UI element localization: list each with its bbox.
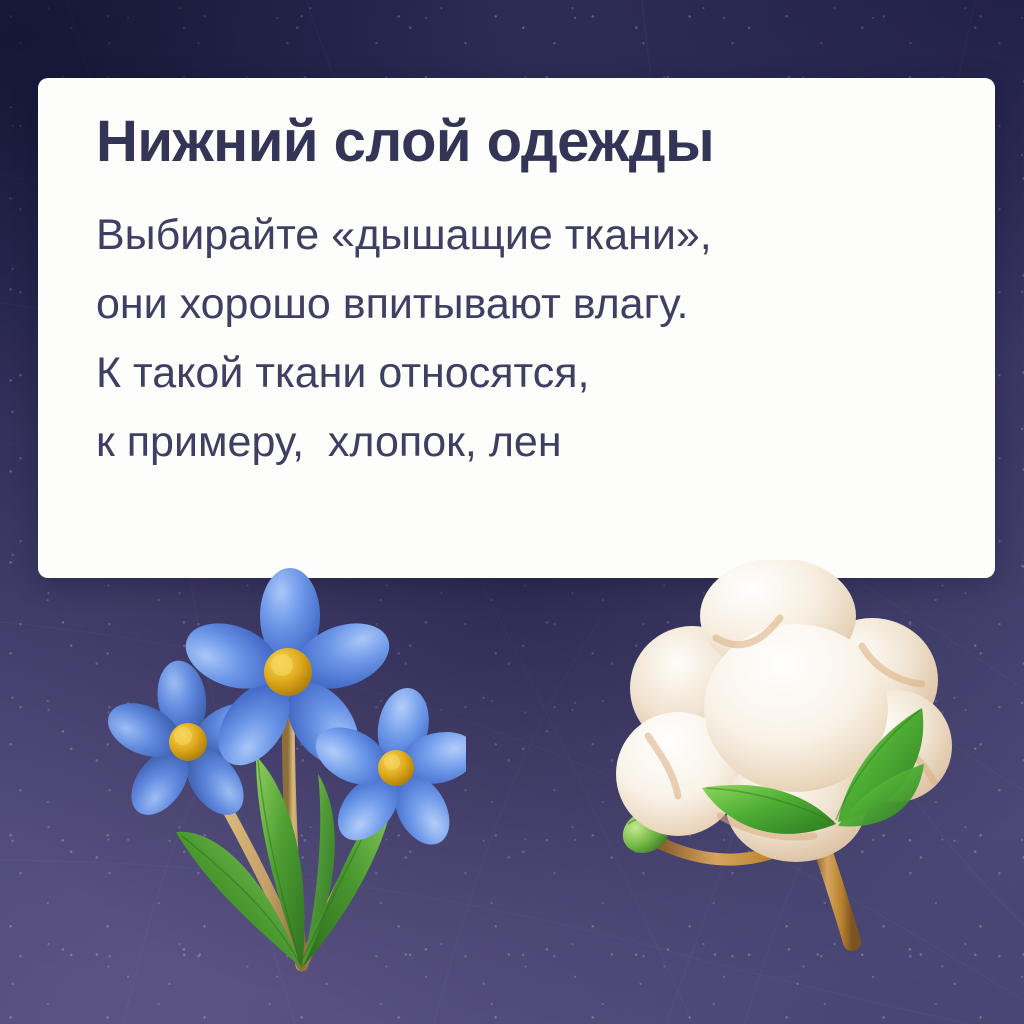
body-text-line-2: они хорошо впитывают влагу. bbox=[96, 270, 955, 339]
body-text-line-3: К такой ткани относятся, bbox=[96, 339, 955, 408]
infographic-card-slide: Нижний слой одежды Выбирайте «дышащие тк… bbox=[0, 0, 1024, 1024]
page-title: Нижний слой одежды bbox=[96, 110, 955, 175]
text-card: Нижний слой одежды Выбирайте «дышащие тк… bbox=[38, 78, 995, 578]
flax-flowers-illustration bbox=[96, 560, 466, 1000]
body-text-line-1: Выбирайте «дышащие ткани», bbox=[96, 201, 955, 270]
cotton-boll-illustration bbox=[600, 560, 970, 960]
body-text-line-4: к примеру, хлопок, лен bbox=[96, 408, 955, 477]
